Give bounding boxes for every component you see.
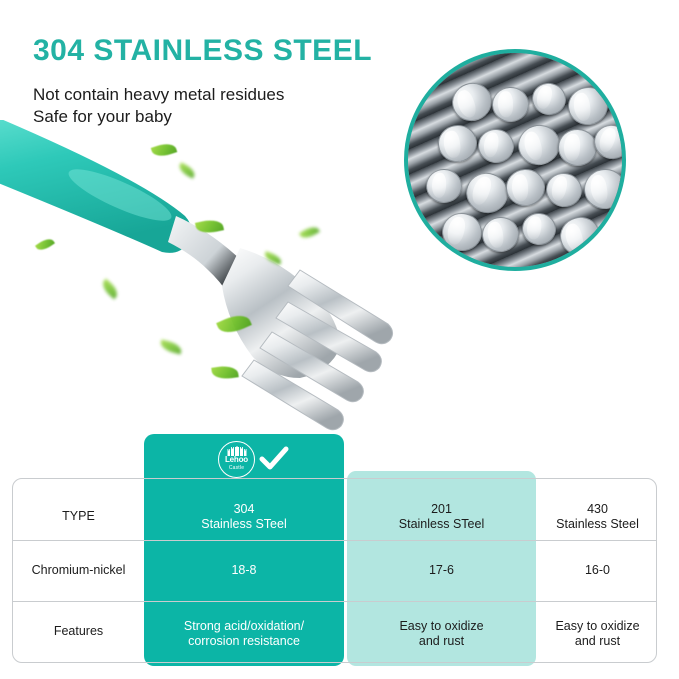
type-material-304: Stainless STeel	[144, 517, 344, 532]
cell-features-430: Easy to oxidize and rust	[538, 619, 657, 649]
cell-chromium-430: 16-0	[538, 563, 657, 578]
type-material-201: Stainless STeel	[347, 517, 536, 532]
type-number-304: 304	[144, 502, 344, 517]
row-label-features: Features	[13, 624, 144, 639]
cell-features-201: Easy to oxidize and rust	[347, 619, 536, 649]
features-201-line-1: Easy to oxidize	[347, 619, 536, 634]
type-material-430: Stainless Steel	[538, 517, 657, 532]
product-infographic: 304 STAINLESS STEEL Not contain heavy me…	[0, 0, 679, 679]
cell-type-201: 201 Stainless STeel	[347, 502, 536, 532]
row-label-chromium-nickel: Chromium-nickel	[13, 563, 144, 578]
cell-chromium-201: 17-6	[347, 563, 536, 578]
features-430-line-1: Easy to oxidize	[538, 619, 657, 634]
cell-chromium-304: 18-8	[144, 563, 344, 578]
type-number-430: 430	[538, 502, 657, 517]
cell-type-304: 304 Stainless STeel	[144, 502, 344, 532]
features-201-line-2: and rust	[347, 634, 536, 649]
type-number-201: 201	[347, 502, 536, 517]
table-cells: TYPE 304 Stainless STeel 201 Stainless S…	[0, 0, 679, 679]
cell-features-304: Strong acid/oxidation/ corrosion resista…	[144, 619, 344, 649]
cell-type-430: 430 Stainless Steel	[538, 502, 657, 532]
features-430-line-2: and rust	[538, 634, 657, 649]
row-label-type: TYPE	[13, 509, 144, 524]
features-304-line-1: Strong acid/oxidation/	[144, 619, 344, 634]
features-304-line-2: corrosion resistance	[144, 634, 344, 649]
